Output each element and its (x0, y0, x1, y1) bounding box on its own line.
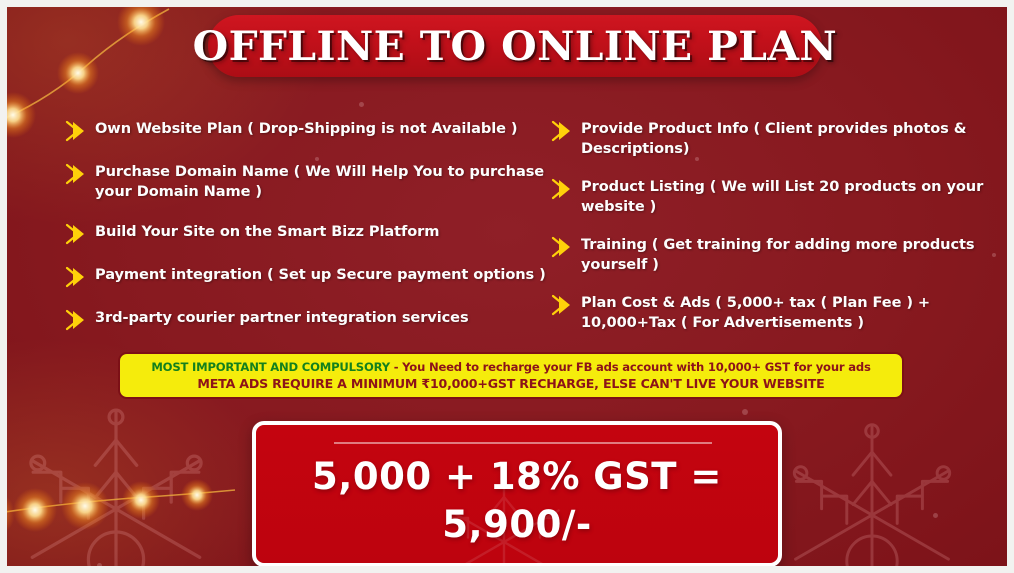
list-item: Payment integration ( Set up Secure paym… (65, 265, 551, 288)
poster-canvas: OFFLINE TO ONLINE PLAN Own Website Plan … (0, 0, 1014, 573)
double-chevron-icon (551, 120, 575, 142)
list-item: Training ( Get training for adding more … (551, 235, 1013, 275)
double-chevron-icon (65, 309, 89, 331)
notice-line-2: META ADS REQUIRE A MINIMUM ₹10,000+GST R… (197, 375, 824, 393)
string-lights-icon (0, 432, 273, 562)
price-text-group: 5,000 + 18% GST = 5,900/- (256, 453, 778, 549)
notice-line-1: MOST IMPORTANT AND COMPULSORY - You Need… (151, 359, 870, 375)
list-item-label: Own Website Plan ( Drop-Shipping is not … (95, 119, 517, 139)
price-line-1: 5,000 + 18% GST = (256, 453, 778, 501)
notice-highlight: MOST IMPORTANT AND COMPULSORY (151, 360, 390, 374)
list-item-label: Training ( Get training for adding more … (581, 235, 1013, 275)
bokeh-dot (742, 409, 748, 415)
page-title: OFFLINE TO ONLINE PLAN (193, 23, 837, 70)
double-chevron-icon (551, 236, 575, 258)
double-chevron-icon (65, 223, 89, 245)
double-chevron-icon (551, 294, 575, 316)
price-line-2: 5,900/- (256, 501, 778, 549)
list-item: 3rd-party courier partner integration se… (65, 308, 551, 331)
snowflake-icon (767, 410, 977, 573)
bokeh-dot (359, 102, 364, 107)
poster-title-banner: OFFLINE TO ONLINE PLAN (208, 15, 822, 77)
list-item: Plan Cost & Ads ( 5,000+ tax ( Plan Fee … (551, 293, 1013, 333)
feature-list-left: Own Website Plan ( Drop-Shipping is not … (65, 119, 551, 351)
list-item: Build Your Site on the Smart Bizz Platfo… (65, 222, 551, 245)
list-item: Product Listing ( We will List 20 produc… (551, 177, 1013, 217)
double-chevron-icon (65, 163, 89, 185)
notice-rest: - You Need to recharge your FB ads accou… (390, 360, 871, 374)
bokeh-dot (933, 513, 938, 518)
list-item: Purchase Domain Name ( We Will Help You … (65, 162, 551, 202)
feature-list-right: Provide Product Info ( Client provides p… (551, 119, 1013, 351)
important-notice-banner: MOST IMPORTANT AND COMPULSORY - You Need… (118, 352, 904, 399)
divider (334, 442, 712, 444)
list-item-label: Plan Cost & Ads ( 5,000+ tax ( Plan Fee … (581, 293, 1013, 333)
double-chevron-icon (65, 120, 89, 142)
snowflake-icon (1, 394, 231, 573)
list-item-label: Build Your Site on the Smart Bizz Platfo… (95, 222, 439, 242)
price-callout-box: 5,000 + 18% GST = 5,900/- (252, 421, 782, 567)
list-item-label: Product Listing ( We will List 20 produc… (581, 177, 1013, 217)
list-item-label: Payment integration ( Set up Secure paym… (95, 265, 546, 285)
list-item: Provide Product Info ( Client provides p… (551, 119, 1013, 159)
list-item-label: Provide Product Info ( Client provides p… (581, 119, 1013, 159)
double-chevron-icon (551, 178, 575, 200)
list-item-label: 3rd-party courier partner integration se… (95, 308, 469, 328)
bokeh-dot (97, 563, 102, 568)
list-item-label: Purchase Domain Name ( We Will Help You … (95, 162, 551, 202)
list-item: Own Website Plan ( Drop-Shipping is not … (65, 119, 551, 142)
double-chevron-icon (65, 266, 89, 288)
